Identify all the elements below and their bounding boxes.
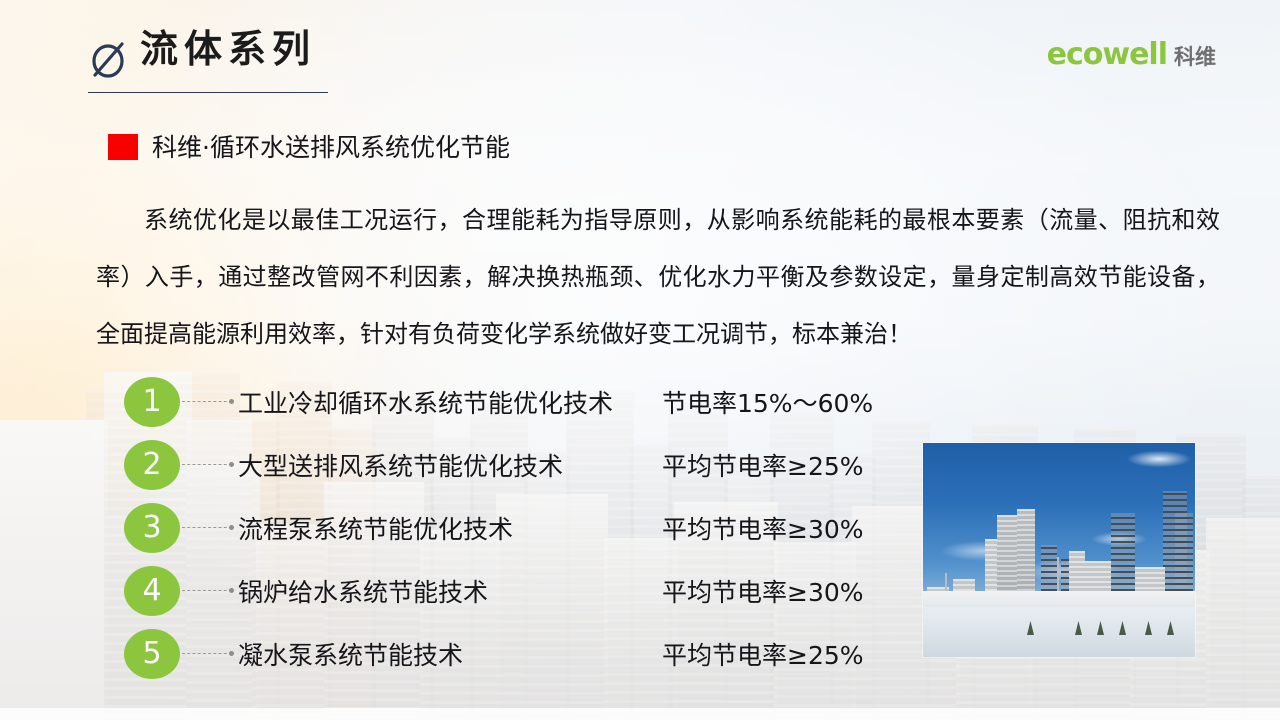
list-bullet-number: 5 xyxy=(124,629,180,679)
title-underline xyxy=(88,92,328,93)
red-square-marker-icon xyxy=(108,134,138,160)
list-item[interactable]: 5 凝水泵系统节能技术 平均节电率≥25% xyxy=(124,622,924,685)
page-title: 流体系列 xyxy=(140,30,316,68)
list-item-value: 平均节电率≥25% xyxy=(662,447,864,483)
connector-dashed-line xyxy=(182,527,232,528)
list-item-value: 节电率15%～60% xyxy=(662,384,873,420)
connector-dashed-line xyxy=(182,653,232,654)
photo-snow-ground xyxy=(923,607,1195,657)
list-item-label: 锅炉给水系统节能技术 xyxy=(238,573,662,609)
connector-dashed-line xyxy=(182,464,232,465)
diameter-symbol-icon xyxy=(88,36,130,82)
list-item-label: 大型送排风系统节能优化技术 xyxy=(238,447,662,483)
connector-dashed-line xyxy=(182,401,232,402)
list-bullet-number: 2 xyxy=(124,440,180,490)
list-item[interactable]: 2 大型送排风系统节能优化技术 平均节电率≥25% xyxy=(124,433,924,496)
list-item-value: 平均节电率≥30% xyxy=(662,573,864,609)
list-item-value: 平均节电率≥25% xyxy=(662,636,864,672)
section-subtitle: 科维·循环水送排风系统优化节能 xyxy=(108,134,510,160)
logo-wordmark: ecowell xyxy=(1047,40,1167,70)
section-subtitle-label: 科维·循环水送排风系统优化节能 xyxy=(152,135,510,160)
brand-logo: ecowell 科维 xyxy=(1047,40,1216,70)
industrial-plant-photo xyxy=(923,443,1195,657)
list-item[interactable]: 4 锅炉给水系统节能技术 平均节电率≥30% xyxy=(124,559,924,622)
list-item[interactable]: 1 工业冷却循环水系统节能优化技术 节电率15%～60% xyxy=(124,370,924,433)
connector-dashed-line xyxy=(182,590,232,591)
list-item-value: 平均节电率≥30% xyxy=(662,510,864,546)
list-item-label: 工业冷却循环水系统节能优化技术 xyxy=(238,384,662,420)
list-item-label: 流程泵系统节能优化技术 xyxy=(238,510,662,546)
background-bottom-band xyxy=(0,708,1280,720)
technology-list: 1 工业冷却循环水系统节能优化技术 节电率15%～60% 2 大型送排风系统节能… xyxy=(124,370,924,685)
list-item[interactable]: 3 流程泵系统节能优化技术 平均节电率≥30% xyxy=(124,496,924,559)
list-item-label: 凝水泵系统节能技术 xyxy=(238,636,662,672)
logo-chinese-name: 科维 xyxy=(1174,47,1216,68)
list-bullet-number: 1 xyxy=(124,377,180,427)
slide: 流体系列 ecowell 科维 科维·循环水送排风系统优化节能 系统优化是以最佳… xyxy=(0,0,1280,720)
list-bullet-number: 4 xyxy=(124,566,180,616)
body-paragraph: 系统优化是以最佳工况运行，合理能耗为指导原则，从影响系统能耗的最根本要素（流量、… xyxy=(96,192,1220,363)
list-bullet-number: 3 xyxy=(124,503,180,553)
